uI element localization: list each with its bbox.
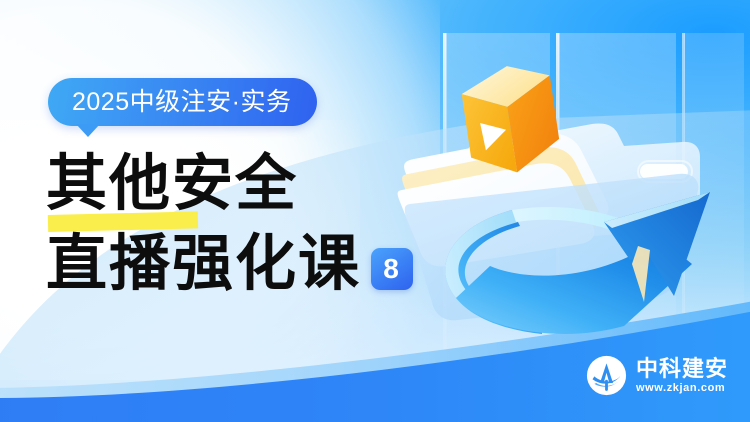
- banner-title-block: 其他安全 直播强化课 8: [46, 152, 466, 298]
- page-title-line1: 其他安全: [46, 152, 466, 218]
- course-tag-tail: [76, 124, 100, 137]
- page-title-line2: 直播强化课 8: [46, 232, 466, 298]
- course-banner: 2025中级注安·实务 其他安全 直播强化课 8 中科建安 www.zkjan.…: [0, 0, 750, 422]
- brand-name: 中科建安: [636, 357, 728, 381]
- brand-url: www.zkjan.com: [636, 382, 728, 395]
- brand-logo[interactable]: 中科建安 www.zkjan.com: [586, 355, 728, 396]
- page-title-line1-text: 其他安全: [46, 151, 298, 218]
- zkjan-person-swoosh-icon: [586, 355, 627, 396]
- episode-number-badge: 8: [371, 248, 413, 290]
- course-tag-label: 2025中级注安·实务: [72, 90, 291, 115]
- page-title-line2-text: 直播强化课: [46, 232, 361, 298]
- course-tag[interactable]: 2025中级注安·实务: [48, 78, 368, 136]
- episode-number-label: 8: [383, 255, 401, 283]
- course-tag-pill[interactable]: 2025中级注安·实务: [48, 78, 317, 126]
- brand-logo-text: 中科建安 www.zkjan.com: [636, 357, 728, 395]
